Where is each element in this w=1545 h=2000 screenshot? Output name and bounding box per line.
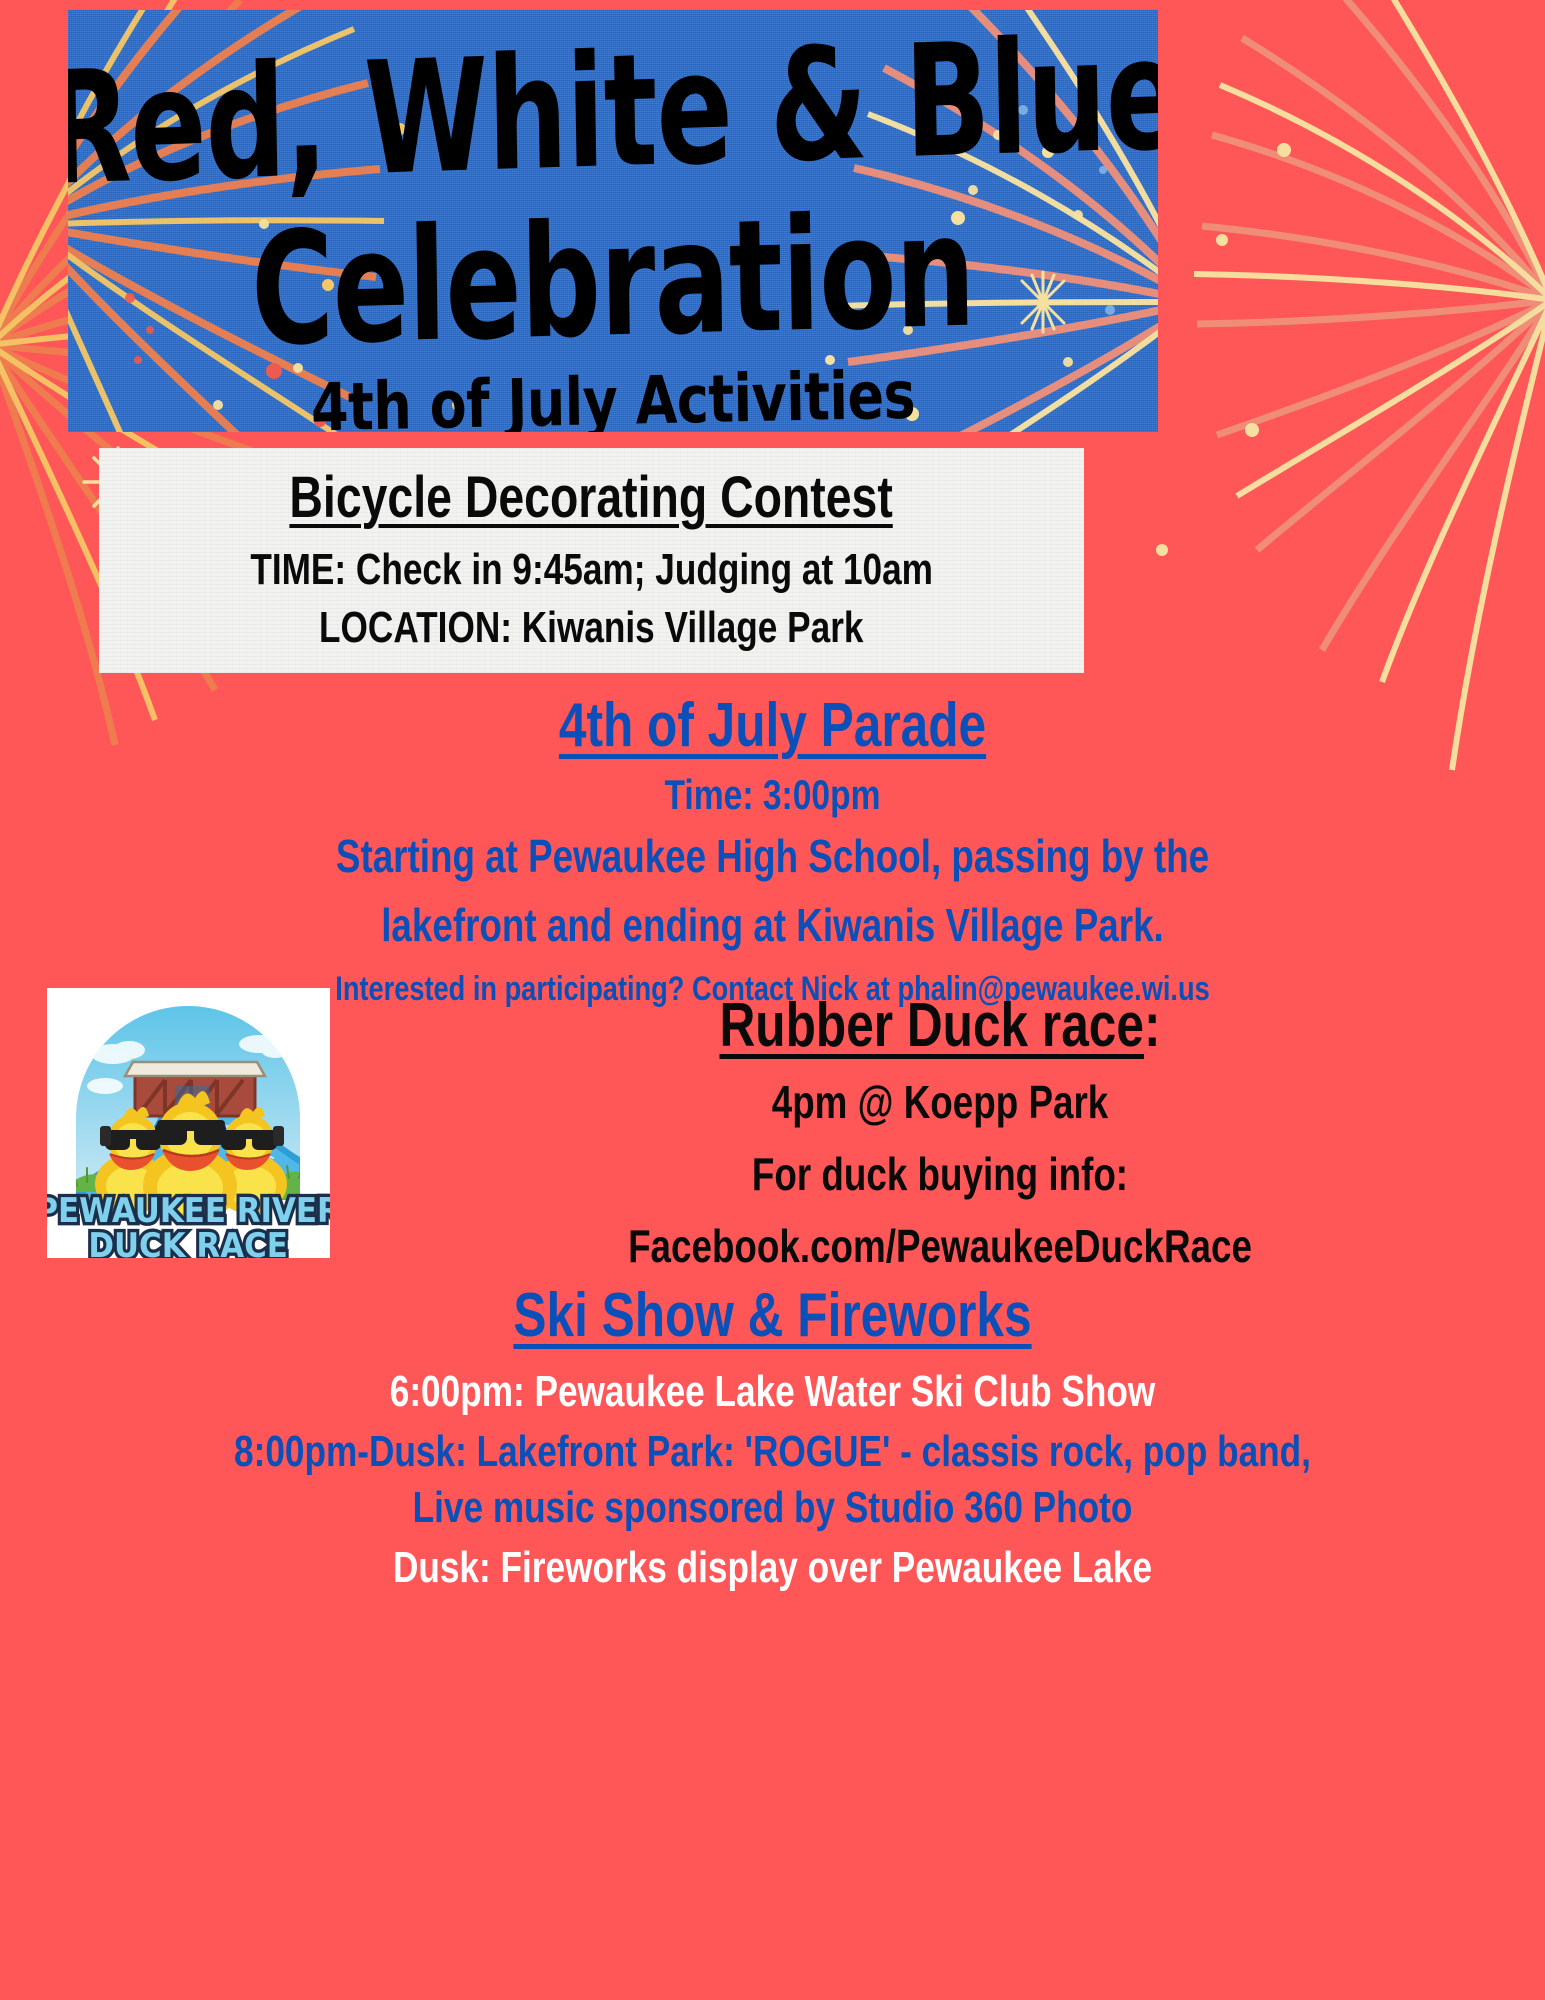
ski-show-line4: Dusk: Fireworks display over Pewaukee La…	[155, 1543, 1391, 1593]
flyer-title-line2: Celebration	[251, 201, 976, 363]
ski-show-section: Ski Show & Fireworks 6:00pm: Pewaukee La…	[0, 1280, 1545, 1593]
duck-race-section: Rubber Duck race: 4pm @ Koepp Park For d…	[345, 990, 1535, 1276]
ski-show-line1: 6:00pm: Pewaukee Lake Water Ski Club Sho…	[155, 1367, 1391, 1417]
duck-race-title: Rubber Duck race:	[464, 990, 1416, 1061]
duck-race-info-label: For duck buying info:	[464, 1145, 1416, 1205]
flyer-title-line1: Red, White & Blue	[68, 24, 1158, 203]
firework-burst-right	[1156, 0, 1545, 770]
logo-line2: DUCK RACE	[88, 1226, 288, 1258]
parade-route-line1: Starting at Pewaukee High School, passin…	[155, 825, 1391, 888]
flyer-subtitle: 4th of July Activities	[311, 366, 916, 432]
banner-text-group: Red, White & Blue Celebration 4th of Jul…	[68, 10, 1158, 432]
bicycle-contest-title: Bicycle Decorating Contest	[290, 464, 893, 531]
duck-race-title-colon: :	[1144, 991, 1161, 1060]
flyer-page: Red, White & Blue Celebration 4th of Jul…	[0, 0, 1545, 2000]
duck-race-title-main: Rubber Duck race	[719, 991, 1144, 1060]
bicycle-contest-card: Bicycle Decorating Contest TIME: Check i…	[99, 448, 1084, 673]
ski-show-line3: Live music sponsored by Studio 360 Photo	[155, 1483, 1391, 1533]
duck-race-time-location: 4pm @ Koepp Park	[464, 1073, 1416, 1133]
duck-race-wordmark: PEWAUKEE RIVER DUCK RACE	[47, 1191, 330, 1258]
parade-time: Time: 3:00pm	[155, 771, 1391, 819]
parade-section: 4th of July Parade Time: 3:00pm Starting…	[0, 690, 1545, 1009]
ski-show-title: Ski Show & Fireworks	[155, 1280, 1391, 1351]
parade-title: 4th of July Parade	[155, 690, 1391, 761]
bicycle-contest-time: TIME: Check in 9:45am; Judging at 10am	[250, 541, 933, 599]
duck-race-logo: PEWAUKEE RIVER DUCK RACE	[47, 988, 330, 1258]
header-banner: Red, White & Blue Celebration 4th of Jul…	[68, 10, 1158, 432]
bicycle-contest-location: LOCATION: Kiwanis Village Park	[319, 599, 863, 657]
parade-route-line2: lakefront and ending at Kiwanis Village …	[155, 894, 1391, 957]
ski-show-line2: 8:00pm-Dusk: Lakefront Park: 'ROGUE' - c…	[155, 1427, 1391, 1477]
duck-race-facebook-link[interactable]: Facebook.com/PewaukeeDuckRace	[464, 1217, 1416, 1277]
logo-line1: PEWAUKEE RIVER	[47, 1191, 330, 1231]
duck-race-logo-artwork: PEWAUKEE RIVER DUCK RACE	[47, 988, 330, 1258]
